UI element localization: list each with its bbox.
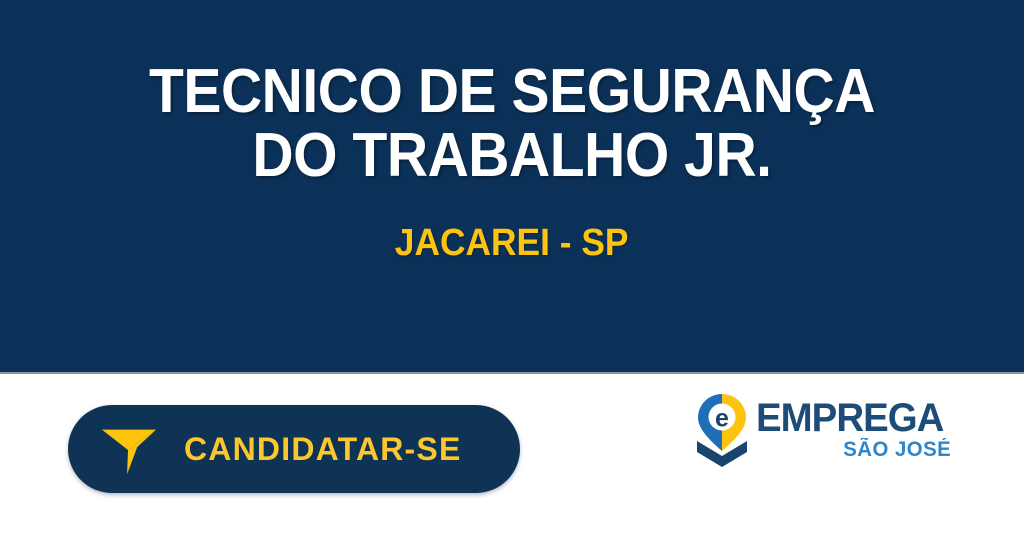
- brand-name: EMPREGA: [756, 398, 943, 438]
- brand-subtitle: SÃO JOSÉ: [762, 439, 951, 460]
- action-bar: CANDIDATAR-SE e EMPREGA S: [0, 374, 1024, 538]
- paper-plane-icon: [98, 418, 160, 480]
- job-hero-banner: TECNICO DE SEGURANÇA DO TRABALHO JR. JAC…: [0, 0, 1024, 374]
- brand-wordmark: EMPREGA SÃO JOSÉ: [756, 392, 951, 460]
- page-title: TECNICO DE SEGURANÇA DO TRABALHO JR.: [107, 0, 917, 188]
- location-pin-icon: e: [694, 392, 750, 468]
- brand-logo[interactable]: e EMPREGA SÃO JOSÉ: [694, 392, 924, 472]
- apply-button-label: CANDIDATAR-SE: [184, 431, 462, 468]
- job-posting-card: TECNICO DE SEGURANÇA DO TRABALHO JR. JAC…: [0, 0, 1024, 538]
- svg-text:e: e: [715, 405, 729, 433]
- apply-button[interactable]: CANDIDATAR-SE: [68, 405, 520, 493]
- job-location-label: JACAREI - SP: [395, 188, 629, 265]
